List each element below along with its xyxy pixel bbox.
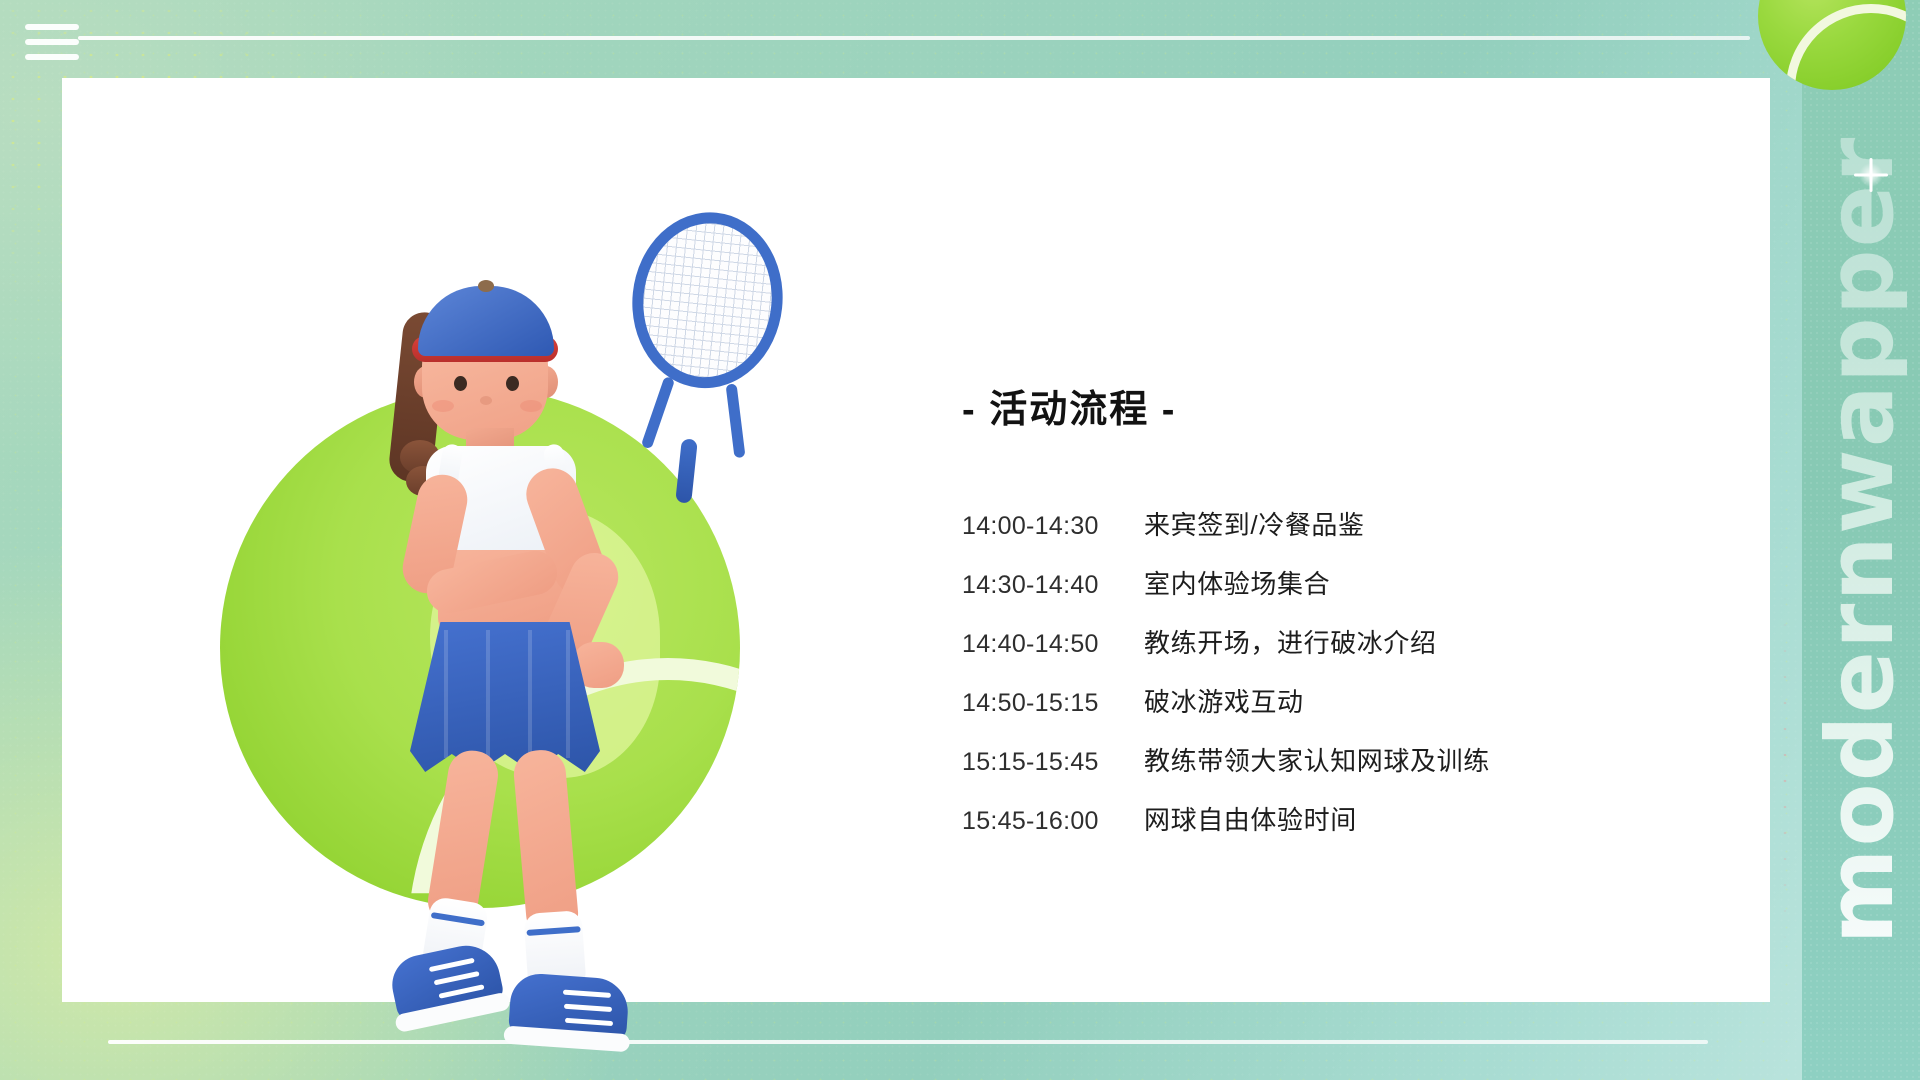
skirt-pleat	[444, 630, 448, 758]
sparkle-icon	[1854, 158, 1888, 192]
racket-grip	[675, 438, 698, 503]
racket-head	[624, 205, 792, 396]
brand-vertical-text: modernwapper	[1815, 136, 1907, 945]
schedule-desc: 教练带领大家认知网球及训练	[1144, 741, 1490, 778]
blush-left	[432, 400, 454, 412]
shoe-stripe	[434, 971, 480, 985]
shoe-stripe	[563, 990, 611, 998]
hamburger-bar	[25, 39, 79, 45]
racket-throat-left	[641, 376, 675, 450]
tennis-racket	[587, 202, 817, 521]
skirt-pleat	[528, 630, 532, 758]
cap	[418, 286, 554, 356]
decorative-line-top	[78, 36, 1750, 40]
schedule-time: 14:40-14:50	[962, 630, 1144, 659]
decorative-line-bottom	[108, 1040, 1708, 1044]
shoe-right	[508, 972, 630, 1042]
schedule-desc: 教练开场，进行破冰介绍	[1144, 623, 1437, 660]
tennis-player-illustration	[182, 198, 822, 998]
skirt-pleat	[486, 630, 490, 758]
eye-right	[506, 376, 519, 391]
racket-throat-right	[726, 383, 746, 458]
ball-seam	[1786, 4, 1906, 90]
sock-band	[526, 926, 580, 936]
shoe-left	[387, 939, 506, 1022]
schedule-desc: 网球自由体验时间	[1144, 800, 1357, 837]
schedule-time: 15:15-15:45	[962, 748, 1144, 777]
schedule-time: 14:30-14:40	[962, 571, 1144, 600]
content-card: - 活动流程 - 14:00-14:30 来宾签到/冷餐品鉴 14:30-14:…	[62, 78, 1770, 1002]
schedule-desc: 来宾签到/冷餐品鉴	[1144, 505, 1365, 542]
blush-right	[520, 400, 542, 412]
schedule-row: 14:30-14:40 室内体验场集合	[962, 564, 1702, 601]
shoe-stripe	[429, 958, 475, 972]
skirt	[410, 622, 600, 772]
brand-side-band: modernwapper	[1802, 0, 1920, 1080]
shoe-stripe	[565, 1018, 613, 1026]
schedule-row: 15:45-16:00 网球自由体验时间	[962, 800, 1702, 837]
skirt-pleat	[566, 630, 570, 758]
cap-button	[478, 280, 494, 292]
nose	[480, 396, 492, 405]
schedule-time: 14:00-14:30	[962, 512, 1144, 541]
sock-band	[431, 912, 485, 926]
schedule-row: 15:15-15:45 教练带领大家认知网球及训练	[962, 741, 1702, 778]
section-title: - 活动流程 -	[962, 378, 1702, 433]
schedule-time: 15:45-16:00	[962, 807, 1144, 836]
schedule-row: 14:00-14:30 来宾签到/冷餐品鉴	[962, 505, 1702, 542]
shoe-stripe	[564, 1004, 612, 1012]
schedule-desc: 室内体验场集合	[1144, 564, 1330, 601]
schedule-list: 14:00-14:30 来宾签到/冷餐品鉴 14:30-14:40 室内体验场集…	[962, 505, 1702, 837]
player-figure	[334, 250, 714, 1010]
schedule-row: 14:50-15:15 破冰游戏互动	[962, 682, 1702, 719]
eye-left	[454, 376, 467, 391]
hamburger-bar	[25, 54, 79, 60]
hamburger-icon-top-left[interactable]	[25, 24, 79, 60]
schedule-time: 14:50-15:15	[962, 689, 1144, 718]
schedule-desc: 破冰游戏互动	[1144, 682, 1304, 719]
shoe-stripe	[439, 984, 485, 998]
hamburger-bar	[25, 24, 79, 30]
schedule-row: 14:40-14:50 教练开场，进行破冰介绍	[962, 623, 1702, 660]
schedule-panel: - 活动流程 - 14:00-14:30 来宾签到/冷餐品鉴 14:30-14:…	[962, 378, 1702, 859]
